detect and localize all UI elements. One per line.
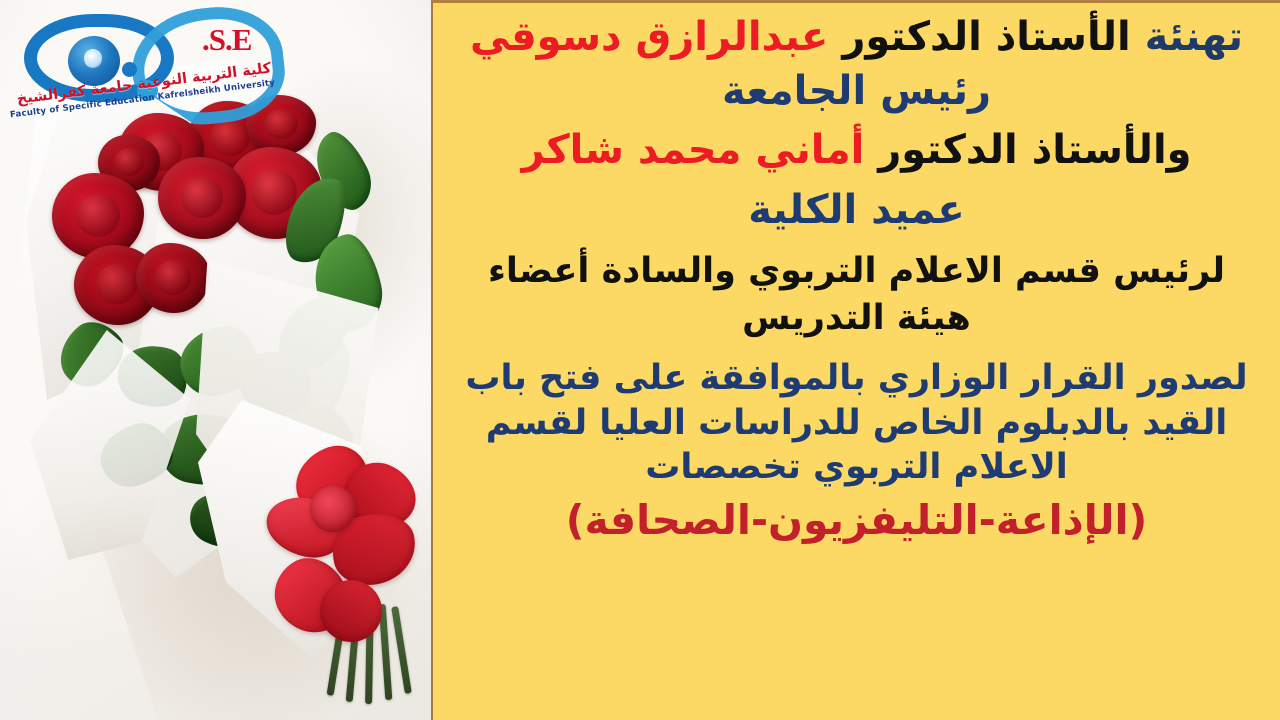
message-line-8: القيد بالدبلوم الخاص للدراسات العليا لقس… bbox=[447, 405, 1266, 441]
line1-seg-greeting: تهنئة bbox=[1131, 14, 1243, 60]
message-line-7: لصدور القرار الوزاري بالموافقة على فتح ب… bbox=[447, 360, 1266, 396]
ribbon-knot bbox=[310, 486, 356, 532]
message-line-1: تهنئة الأستاذ الدكتور عبدالرازق دسوقي bbox=[447, 17, 1266, 59]
bouquet-photo: S.E. كلية التربية النوعية جامعة كفرالشيخ… bbox=[0, 0, 431, 720]
line2-seg-role: رئيس الجامعة bbox=[722, 68, 991, 114]
line3-seg-name: أماني محمد شاكر bbox=[521, 127, 864, 173]
ribbon-bow bbox=[258, 440, 431, 640]
faculty-logo: S.E. كلية التربية النوعية جامعة كفرالشيخ… bbox=[4, 0, 276, 118]
logo-dot-icon bbox=[122, 62, 137, 77]
line9-seg-text: الاعلام التربوي تخصصات bbox=[645, 447, 1068, 487]
message-line-2: رئيس الجامعة bbox=[447, 71, 1266, 113]
line8-seg-text: القيد بالدبلوم الخاص للدراسات العليا لقس… bbox=[486, 403, 1228, 443]
rose-icon bbox=[158, 157, 246, 239]
line5-seg-text: لرئيس قسم الاعلام التربوي والسادة أعضاء bbox=[488, 251, 1225, 291]
rose-icon bbox=[136, 243, 210, 313]
message-line-5: لرئيس قسم الاعلام التربوي والسادة أعضاء bbox=[447, 253, 1266, 289]
message-line-6: هيئة التدريس bbox=[447, 300, 1266, 336]
logo-pupil-icon bbox=[68, 36, 120, 86]
message-line-4: عميد الكلية bbox=[447, 190, 1266, 232]
message-line-3: والأستاذ الدكتور أماني محمد شاكر bbox=[447, 130, 1266, 172]
line7-seg-text: لصدور القرار الوزاري بالموافقة على فتح ب… bbox=[465, 358, 1247, 398]
message-line-10: (الإذاعة-التليفزيون-الصحافة) bbox=[447, 499, 1266, 542]
line1-seg-title: الأستاذ الدكتور bbox=[828, 14, 1130, 60]
line10-seg-specializations: (الإذاعة-التليفزيون-الصحافة) bbox=[566, 496, 1148, 544]
congratulation-poster: S.E. كلية التربية النوعية جامعة كفرالشيخ… bbox=[0, 0, 1280, 720]
line6-seg-text: هيئة التدريس bbox=[742, 298, 971, 338]
line3-seg-title: والأستاذ الدكتور bbox=[864, 127, 1191, 173]
message-line-9: الاعلام التربوي تخصصات bbox=[447, 449, 1266, 485]
rose-icon bbox=[52, 173, 144, 259]
announcement-text-panel: تهنئة الأستاذ الدكتور عبدالرازق دسوقي رئ… bbox=[431, 0, 1280, 720]
line1-seg-name: عبدالرازق دسوقي bbox=[470, 14, 828, 60]
logo-initials: S.E. bbox=[202, 22, 251, 58]
line4-seg-role: عميد الكلية bbox=[748, 187, 964, 233]
